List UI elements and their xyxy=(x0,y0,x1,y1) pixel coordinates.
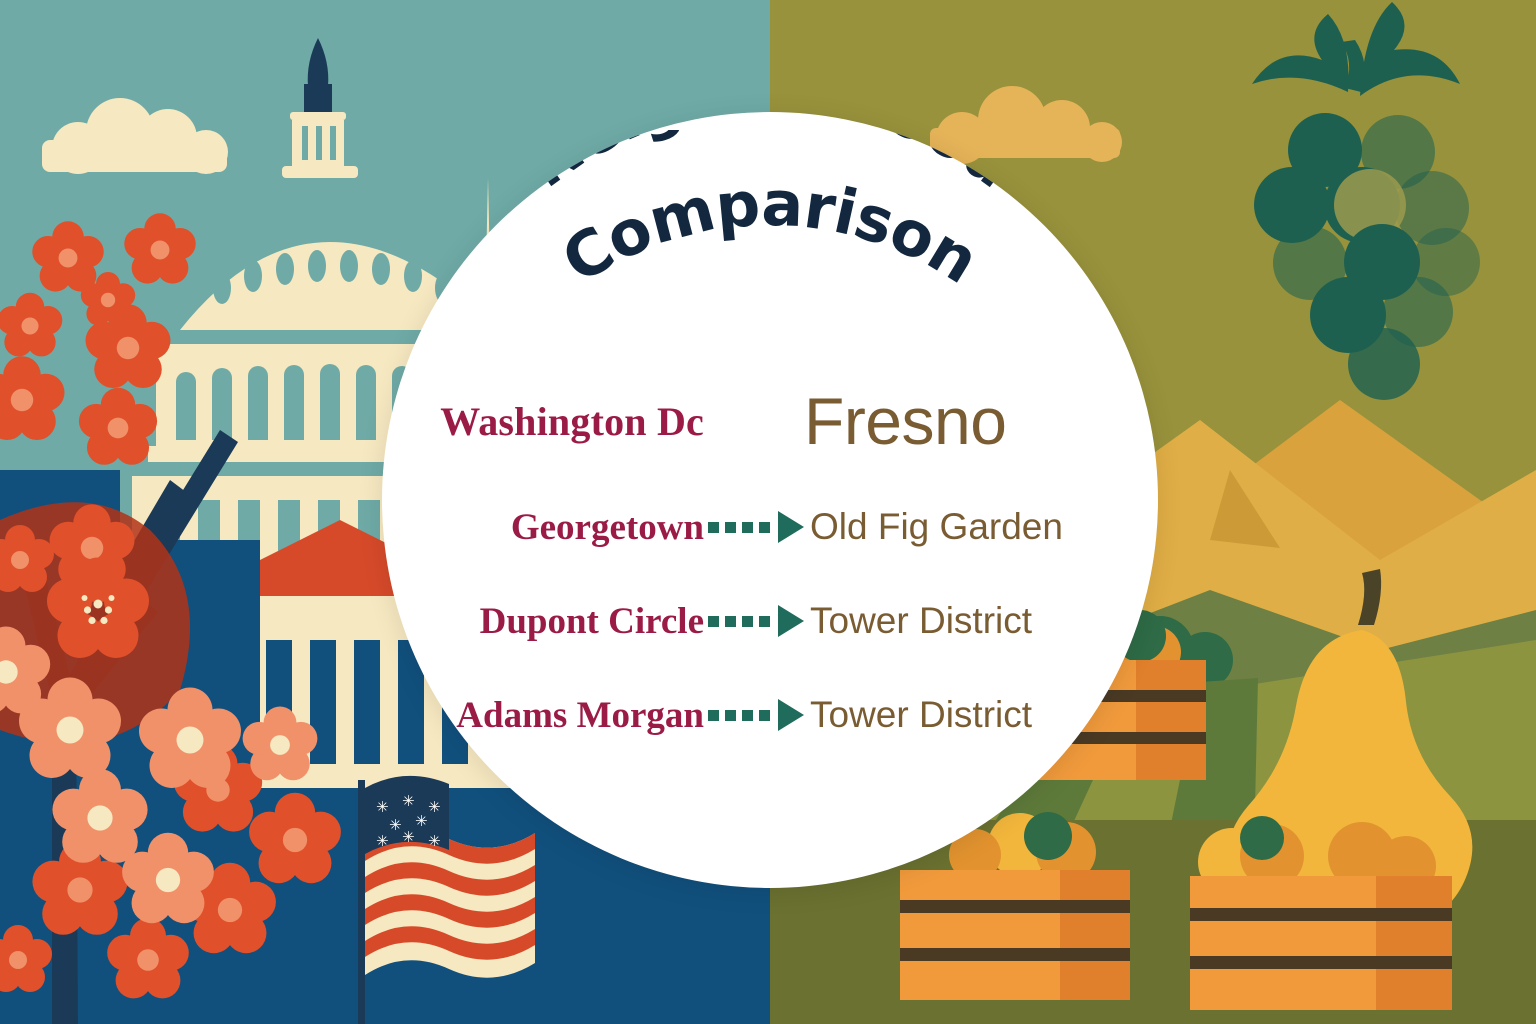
left-neighborhood: Adams Morgan xyxy=(382,694,708,737)
left-city-name: Washington Dc xyxy=(382,398,708,445)
left-neighborhood: Dupont Circle xyxy=(382,600,708,643)
dotted-arrow-icon xyxy=(708,511,804,543)
comparison-list: Washington Dc Fresno Georgetown Old Fig … xyxy=(382,362,1158,762)
right-neighborhood: Tower District xyxy=(804,694,1158,736)
arrow-dash xyxy=(742,522,753,533)
fruit-crate-right xyxy=(1190,812,1452,1010)
neighborhood-pair-row: Dupont Circle Tower District xyxy=(382,574,1158,668)
neighborhood-pair-row: Georgetown Old Fig Garden xyxy=(382,480,1158,574)
poster-canvas: ✳✳ ✳✳ ✳✳ ✳✳ xyxy=(0,0,1536,1024)
arrow-head xyxy=(778,511,804,543)
arrow-dash xyxy=(708,522,719,533)
arrow-head xyxy=(778,605,804,637)
arrow-dash xyxy=(708,616,719,627)
arrow-dash xyxy=(759,522,770,533)
arrow-dash xyxy=(759,616,770,627)
city-header-row: Washington Dc Fresno xyxy=(382,362,1158,480)
arrow-head xyxy=(778,699,804,731)
page-title: Neighborhood Comparison xyxy=(382,130,1158,400)
arrow-dash xyxy=(725,710,736,721)
right-neighborhood: Tower District xyxy=(804,600,1158,642)
arrow-dash xyxy=(708,710,719,721)
arrow-dash xyxy=(725,522,736,533)
arrow-dash xyxy=(725,616,736,627)
right-neighborhood: Old Fig Garden xyxy=(804,506,1158,548)
title-line-2: Comparison xyxy=(550,167,991,298)
right-city-name: Fresno xyxy=(802,383,1158,459)
left-neighborhood: Georgetown xyxy=(382,506,708,549)
comparison-card: Neighborhood Comparison Washington Dc Fr… xyxy=(382,112,1158,888)
arrow-dash xyxy=(759,710,770,721)
arrow-dash xyxy=(742,710,753,721)
dotted-arrow-icon xyxy=(708,605,804,637)
arrow-dash xyxy=(742,616,753,627)
dotted-arrow-icon xyxy=(708,699,804,731)
neighborhood-pair-row: Adams Morgan Tower District xyxy=(382,668,1158,762)
